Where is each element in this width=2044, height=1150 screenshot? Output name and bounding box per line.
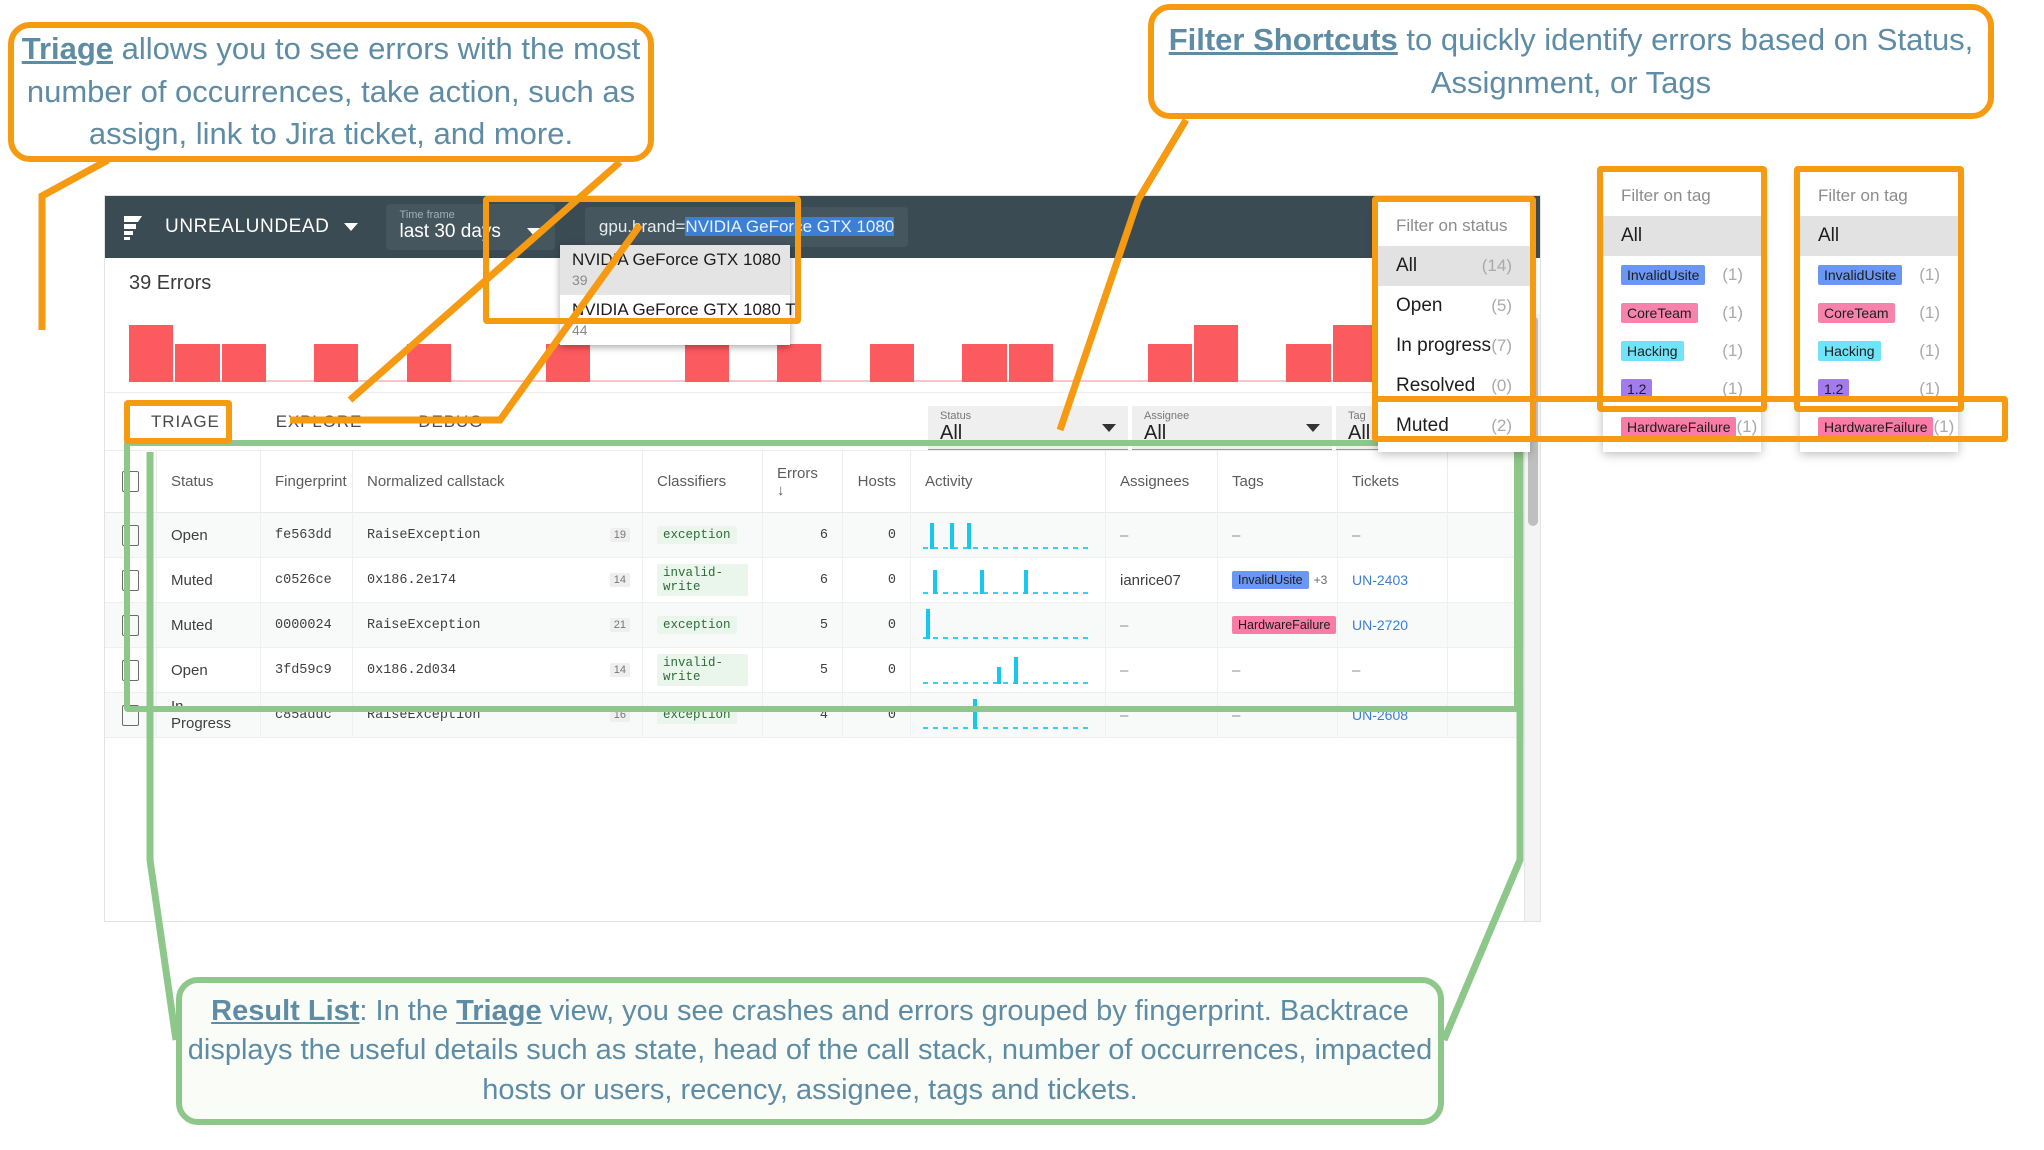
organization-name[interactable]: UNREALUNDEAD xyxy=(165,216,330,238)
autocomplete-item-count: 44 xyxy=(572,322,778,338)
org-chevron-down-icon[interactable] xyxy=(344,223,358,231)
histogram-bar xyxy=(129,325,173,382)
histogram-bar xyxy=(870,344,914,382)
highlight-tag-pop-1 xyxy=(1597,166,1767,412)
histogram-bar xyxy=(1194,325,1238,382)
callout-filters-text: to quickly identify errors based on Stat… xyxy=(1398,22,1974,100)
backtrace-logo-icon xyxy=(119,212,149,242)
callout-result-link: Triage xyxy=(456,995,541,1027)
highlight-tag-pop-2 xyxy=(1794,166,1964,412)
callout-result-mid: : In the xyxy=(359,995,456,1027)
histogram-bar xyxy=(823,380,867,382)
histogram-bar xyxy=(314,344,358,382)
histogram-bar xyxy=(1009,344,1053,382)
app-top-bar: UNREALUNDEAD Time frame last 30 days gpu… xyxy=(105,196,1540,258)
histogram-bar xyxy=(407,344,451,382)
histogram-bar xyxy=(638,380,682,382)
histogram-bar xyxy=(268,380,312,382)
callout-result-list: Result List: In the Triage view, you see… xyxy=(176,977,1444,1125)
highlight-query-box xyxy=(483,196,801,324)
histogram-bar xyxy=(1286,344,1330,382)
callout-triage: Triage allows you to see errors with the… xyxy=(8,22,654,162)
histogram-bar xyxy=(1055,380,1099,382)
histogram-bar xyxy=(453,380,497,382)
histogram-bar xyxy=(1240,380,1284,382)
assignee-filter-chevron-down-icon[interactable] xyxy=(1306,424,1320,432)
highlight-result-list xyxy=(124,440,1520,712)
histogram-bar xyxy=(916,380,960,382)
status-filter-chevron-down-icon[interactable] xyxy=(1102,424,1116,432)
status-filter-label: Status xyxy=(940,410,1116,422)
histogram-bar xyxy=(360,380,404,382)
histogram-bar xyxy=(592,380,636,382)
histogram-bars xyxy=(129,304,1516,382)
histogram-bar xyxy=(546,344,590,382)
highlight-triage-tab xyxy=(124,400,232,444)
histogram-bar xyxy=(962,344,1006,382)
callout-triage-lead: Triage xyxy=(22,31,113,66)
histogram-bar xyxy=(1333,325,1377,382)
histogram-bar xyxy=(499,380,543,382)
callout-result-lead: Result List xyxy=(211,995,359,1027)
histogram-bar xyxy=(777,344,821,382)
histogram-bar xyxy=(731,380,775,382)
histogram-bar xyxy=(222,344,266,382)
error-count-title: 39 Errors xyxy=(129,272,1518,295)
histogram-bar xyxy=(1148,344,1192,382)
callout-triage-text: allows you to see errors with the most n… xyxy=(27,31,640,152)
callout-filters-lead: Filter Shortcuts xyxy=(1169,22,1398,57)
assignee-filter-label: Assignee xyxy=(1144,410,1320,422)
callout-filter-shortcuts: Filter Shortcuts to quickly identify err… xyxy=(1148,4,1994,119)
highlight-filter-selects xyxy=(1372,396,2008,442)
errors-histogram-panel: 39 Errors xyxy=(105,258,1540,393)
histogram-bar xyxy=(175,344,219,382)
histogram-bar xyxy=(1101,380,1145,382)
